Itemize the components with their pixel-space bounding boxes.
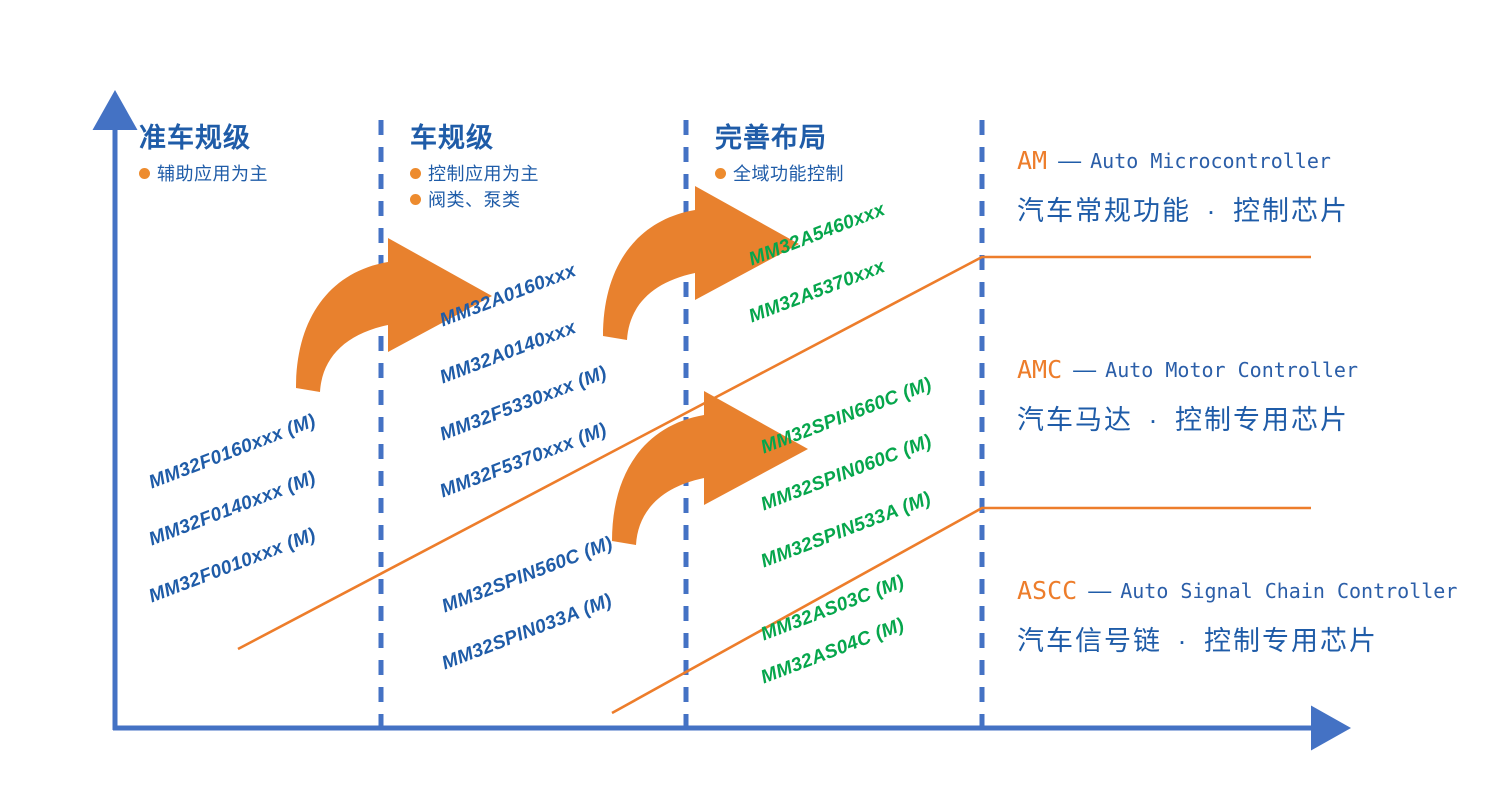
- legend-description-left: 汽车马达: [1017, 405, 1133, 435]
- legend-heading: AM — Auto Microcontroller: [1017, 146, 1349, 175]
- bullet-label: 全域功能控制: [733, 161, 844, 187]
- legend-full-name: Auto Microcontroller: [1090, 149, 1331, 173]
- legend-description: 汽车马达 · 控制专用芯片: [1017, 398, 1358, 437]
- progress-arrow-3: [612, 391, 808, 545]
- stage-title: 准车规级: [139, 124, 268, 154]
- stage-title: 车规级: [410, 124, 539, 154]
- bullet-dot-icon: [410, 194, 421, 205]
- bullet-dot-icon: [139, 168, 150, 179]
- legend-heading: ASCC — Auto Signal Chain Controller: [1017, 576, 1457, 605]
- legend-description-separator: ·: [1201, 196, 1224, 226]
- legend-heading: AMC — Auto Motor Controller: [1017, 355, 1358, 384]
- legend-description: 汽车信号链 · 控制专用芯片: [1017, 619, 1457, 658]
- stage-bullets: 控制应用为主 阀类、泵类: [410, 161, 539, 213]
- legend-description-right: 控制专用芯片: [1175, 405, 1349, 435]
- bullet-item: 辅助应用为主: [139, 161, 268, 187]
- legend-description: 汽车常规功能 · 控制芯片: [1017, 189, 1349, 228]
- stage-header-2: 车规级 控制应用为主 阀类、泵类: [410, 124, 539, 213]
- legend-block-am: AM — Auto Microcontroller 汽车常规功能 · 控制芯片: [1017, 146, 1349, 228]
- bullet-label: 辅助应用为主: [157, 161, 268, 187]
- bullet-item: 阀类、泵类: [410, 187, 539, 213]
- bullet-label: 控制应用为主: [428, 161, 539, 187]
- bullet-item: 全域功能控制: [715, 161, 844, 187]
- legend-dash-icon: —: [1058, 149, 1081, 172]
- legend-description-left: 汽车常规功能: [1017, 196, 1191, 226]
- legend-dash-icon: —: [1088, 579, 1111, 602]
- legend-block-ascc: ASCC — Auto Signal Chain Controller 汽车信号…: [1017, 576, 1457, 658]
- legend-description-right: 控制专用芯片: [1204, 626, 1378, 656]
- legend-block-amc: AMC — Auto Motor Controller 汽车马达 · 控制专用芯…: [1017, 355, 1358, 437]
- legend-abbreviation: ASCC: [1017, 576, 1077, 605]
- roadmap-diagram: 准车规级 辅助应用为主 车规级 控制应用为主 阀类、泵类 完善布局 全域: [0, 0, 1485, 799]
- bullet-dot-icon: [715, 168, 726, 179]
- legend-abbreviation: AMC: [1017, 355, 1062, 384]
- legend-abbreviation: AM: [1017, 146, 1047, 175]
- bullet-item: 控制应用为主: [410, 161, 539, 187]
- legend-description-separator: ·: [1143, 405, 1166, 435]
- legend-description-separator: ·: [1172, 626, 1195, 656]
- legend-full-name: Auto Motor Controller: [1105, 358, 1358, 382]
- stage-header-3: 完善布局 全域功能控制: [715, 124, 844, 187]
- stage-title: 完善布局: [715, 124, 844, 154]
- part-number-label: MM32A5370xxx: [746, 256, 888, 328]
- stage-bullets: 全域功能控制: [715, 161, 844, 187]
- legend-description-right: 控制芯片: [1233, 196, 1349, 226]
- bullet-label: 阀类、泵类: [428, 187, 521, 213]
- legend-description-left: 汽车信号链: [1017, 626, 1162, 656]
- legend-dash-icon: —: [1073, 358, 1096, 381]
- stage-bullets: 辅助应用为主: [139, 161, 268, 187]
- bullet-dot-icon: [410, 168, 421, 179]
- legend-full-name: Auto Signal Chain Controller: [1120, 579, 1457, 603]
- stage-header-1: 准车规级 辅助应用为主: [139, 124, 268, 187]
